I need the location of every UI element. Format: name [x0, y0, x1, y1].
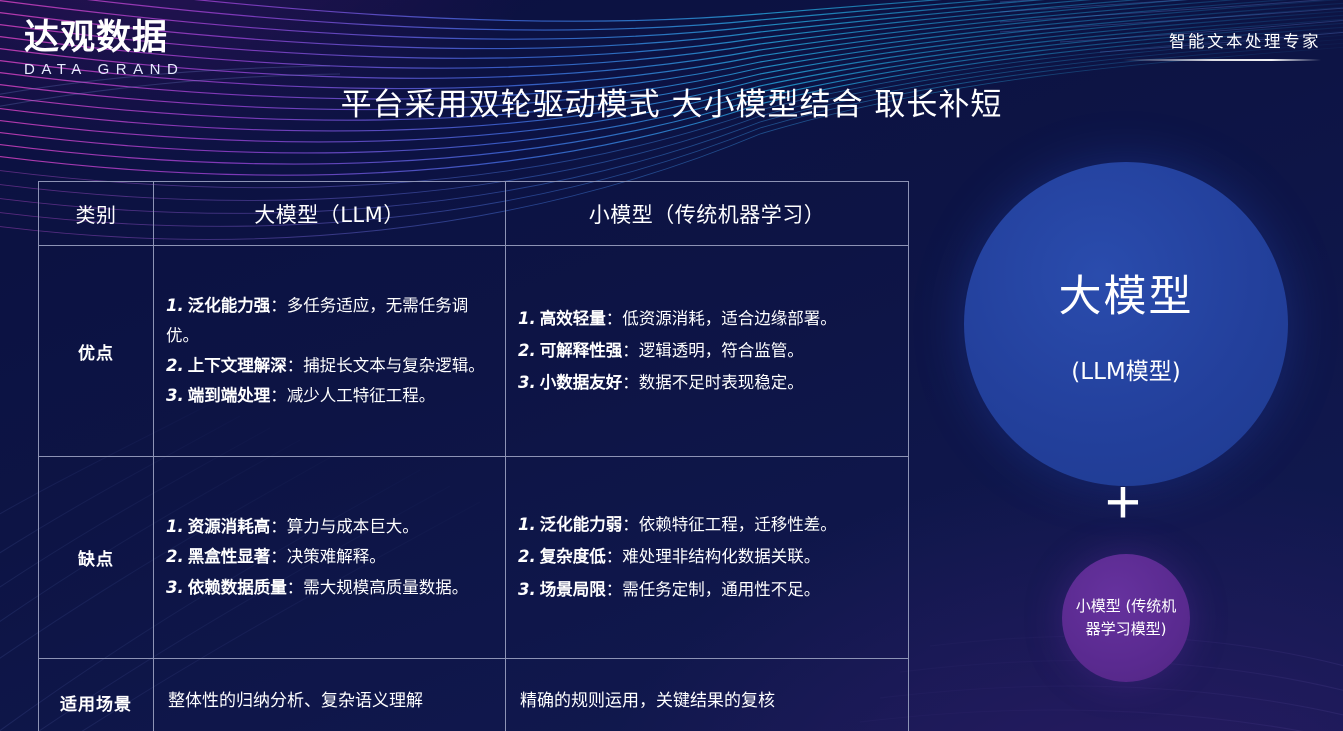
- cell-small-advantages: 1.高效轻量：低资源消耗，适合边缘部署。 2.可解释性强：逻辑透明，符合监管。 …: [506, 246, 909, 457]
- list-item: 3.场景局限：需任务定制，通用性不足。: [518, 574, 894, 606]
- item-keyword: 复杂度低: [540, 547, 606, 566]
- big-model-label: 大模型: [1059, 262, 1194, 324]
- comparison-table: 类别 大模型（LLM） 小模型（传统机器学习） 优点 1.泛化能力强：多任务适应…: [38, 181, 909, 731]
- table-row: 适用场景 整体性的归纳分析、复杂语义理解 精确的规则运用，关键结果的复核: [39, 659, 909, 731]
- item-description: 数据不足时表现稳定。: [639, 373, 804, 392]
- cell-llm-advantages: 1.泛化能力强：多任务适应，无需任务调优。 2.上下文理解深：捕捉长文本与复杂逻…: [154, 246, 506, 457]
- item-keyword: 小数据友好: [540, 373, 623, 392]
- item-description: 算力与成本巨大。: [287, 517, 419, 536]
- item-separator: ：: [606, 309, 623, 328]
- row-label-advantages: 优点: [39, 246, 154, 457]
- item-keyword: 高效轻量: [540, 309, 606, 328]
- list-item: 1.泛化能力弱：依赖特征工程，迁移性差。: [518, 509, 894, 541]
- list-item: 2.上下文理解深：捕捉长文本与复杂逻辑。: [166, 351, 491, 381]
- item-keyword: 依赖数据质量: [188, 578, 287, 597]
- item-keyword: 上下文理解深: [188, 356, 287, 375]
- big-model-circle: 大模型 (LLM模型): [964, 162, 1288, 486]
- row-label-disadvantages: 缺点: [39, 457, 154, 659]
- item-separator: ：: [270, 296, 287, 315]
- small-model-label: 小模型 (传统机器学习模型): [1062, 595, 1190, 642]
- logo-english-name: DATA GRAND: [24, 61, 184, 78]
- item-description: 决策难解释。: [287, 547, 386, 566]
- item-number: 2.: [166, 547, 184, 566]
- item-description: 减少人工特征工程。: [287, 386, 436, 405]
- item-number: 3.: [518, 373, 536, 392]
- list-item: 2.复杂度低：难处理非结构化数据关联。: [518, 541, 894, 573]
- item-separator: ：: [270, 547, 287, 566]
- item-description: 需任务定制，通用性不足。: [622, 580, 820, 599]
- item-number: 1.: [166, 296, 184, 315]
- item-separator: ：: [287, 356, 304, 375]
- item-keyword: 场景局限: [540, 580, 606, 599]
- item-keyword: 资源消耗高: [188, 517, 271, 536]
- item-description: 依赖特征工程，迁移性差。: [639, 515, 837, 534]
- header-category: 类别: [39, 182, 154, 246]
- list-item: 2.可解释性强：逻辑透明，符合监管。: [518, 335, 894, 367]
- item-keyword: 泛化能力弱: [540, 515, 623, 534]
- table-row: 缺点 1.资源消耗高：算力与成本巨大。 2.黑盒性显著：决策难解释。 3.依赖数…: [39, 457, 909, 659]
- item-separator: ：: [287, 578, 304, 597]
- item-number: 2.: [518, 341, 536, 360]
- table-header-row: 类别 大模型（LLM） 小模型（传统机器学习）: [39, 182, 909, 246]
- item-description: 需大规模高质量数据。: [303, 578, 468, 597]
- item-keyword: 可解释性强: [540, 341, 623, 360]
- item-number: 1.: [166, 517, 184, 536]
- item-description: 难处理非结构化数据关联。: [622, 547, 820, 566]
- tagline-block: 智能文本处理专家: [1123, 28, 1321, 61]
- small-model-circle: 小模型 (传统机器学习模型): [1062, 554, 1190, 682]
- model-combination-diagram: 大模型 (LLM模型) + 小模型 (传统机器学习模型): [958, 150, 1288, 710]
- slide-root: 达观数据 DATA GRAND 智能文本处理专家 平台采用双轮驱动模式 大小模型…: [0, 0, 1343, 731]
- brand-logo: 达观数据 DATA GRAND: [24, 20, 184, 78]
- row-label-use-cases: 适用场景: [39, 659, 154, 731]
- cell-llm-use-cases: 整体性的归纳分析、复杂语义理解: [154, 659, 506, 731]
- list-item: 1.资源消耗高：算力与成本巨大。: [166, 512, 491, 542]
- header-llm: 大模型（LLM）: [154, 182, 506, 246]
- list-item: 1.高效轻量：低资源消耗，适合边缘部署。: [518, 303, 894, 335]
- item-number: 3.: [166, 386, 184, 405]
- item-number: 3.: [518, 580, 536, 599]
- tagline-text: 智能文本处理专家: [1123, 28, 1321, 52]
- list-item: 3.依赖数据质量：需大规模高质量数据。: [166, 573, 491, 603]
- logo-chinese-name: 达观数据: [24, 20, 184, 57]
- item-description: 逻辑透明，符合监管。: [639, 341, 804, 360]
- item-separator: ：: [270, 517, 287, 536]
- item-number: 1.: [518, 309, 536, 328]
- item-number: 1.: [518, 515, 536, 534]
- header-small-model: 小模型（传统机器学习）: [506, 182, 909, 246]
- item-number: 3.: [166, 578, 184, 597]
- cell-small-use-cases: 精确的规则运用，关键结果的复核: [506, 659, 909, 731]
- big-model-sublabel: (LLM模型): [1071, 352, 1180, 386]
- item-number: 2.: [518, 547, 536, 566]
- item-separator: ：: [606, 547, 623, 566]
- tagline-underline: [1123, 59, 1321, 61]
- list-item: 3.小数据友好：数据不足时表现稳定。: [518, 367, 894, 399]
- item-separator: ：: [270, 386, 287, 405]
- item-number: 2.: [166, 356, 184, 375]
- list-item: 3.端到端处理：减少人工特征工程。: [166, 381, 491, 411]
- item-keyword: 黑盒性显著: [188, 547, 271, 566]
- item-separator: ：: [622, 341, 639, 360]
- page-title: 平台采用双轮驱动模式 大小模型结合 取长补短: [0, 79, 1343, 124]
- item-description: 捕捉长文本与复杂逻辑。: [303, 356, 485, 375]
- item-keyword: 泛化能力强: [188, 296, 271, 315]
- item-keyword: 端到端处理: [188, 386, 271, 405]
- item-separator: ：: [622, 515, 639, 534]
- table-row: 优点 1.泛化能力强：多任务适应，无需任务调优。 2.上下文理解深：捕捉长文本与…: [39, 246, 909, 457]
- plus-icon: +: [958, 472, 1288, 534]
- cell-llm-disadvantages: 1.资源消耗高：算力与成本巨大。 2.黑盒性显著：决策难解释。 3.依赖数据质量…: [154, 457, 506, 659]
- item-description: 低资源消耗，适合边缘部署。: [622, 309, 837, 328]
- list-item: 1.泛化能力强：多任务适应，无需任务调优。: [166, 291, 491, 351]
- cell-small-disadvantages: 1.泛化能力弱：依赖特征工程，迁移性差。 2.复杂度低：难处理非结构化数据关联。…: [506, 457, 909, 659]
- list-item: 2.黑盒性显著：决策难解释。: [166, 542, 491, 572]
- item-separator: ：: [606, 580, 623, 599]
- item-separator: ：: [622, 373, 639, 392]
